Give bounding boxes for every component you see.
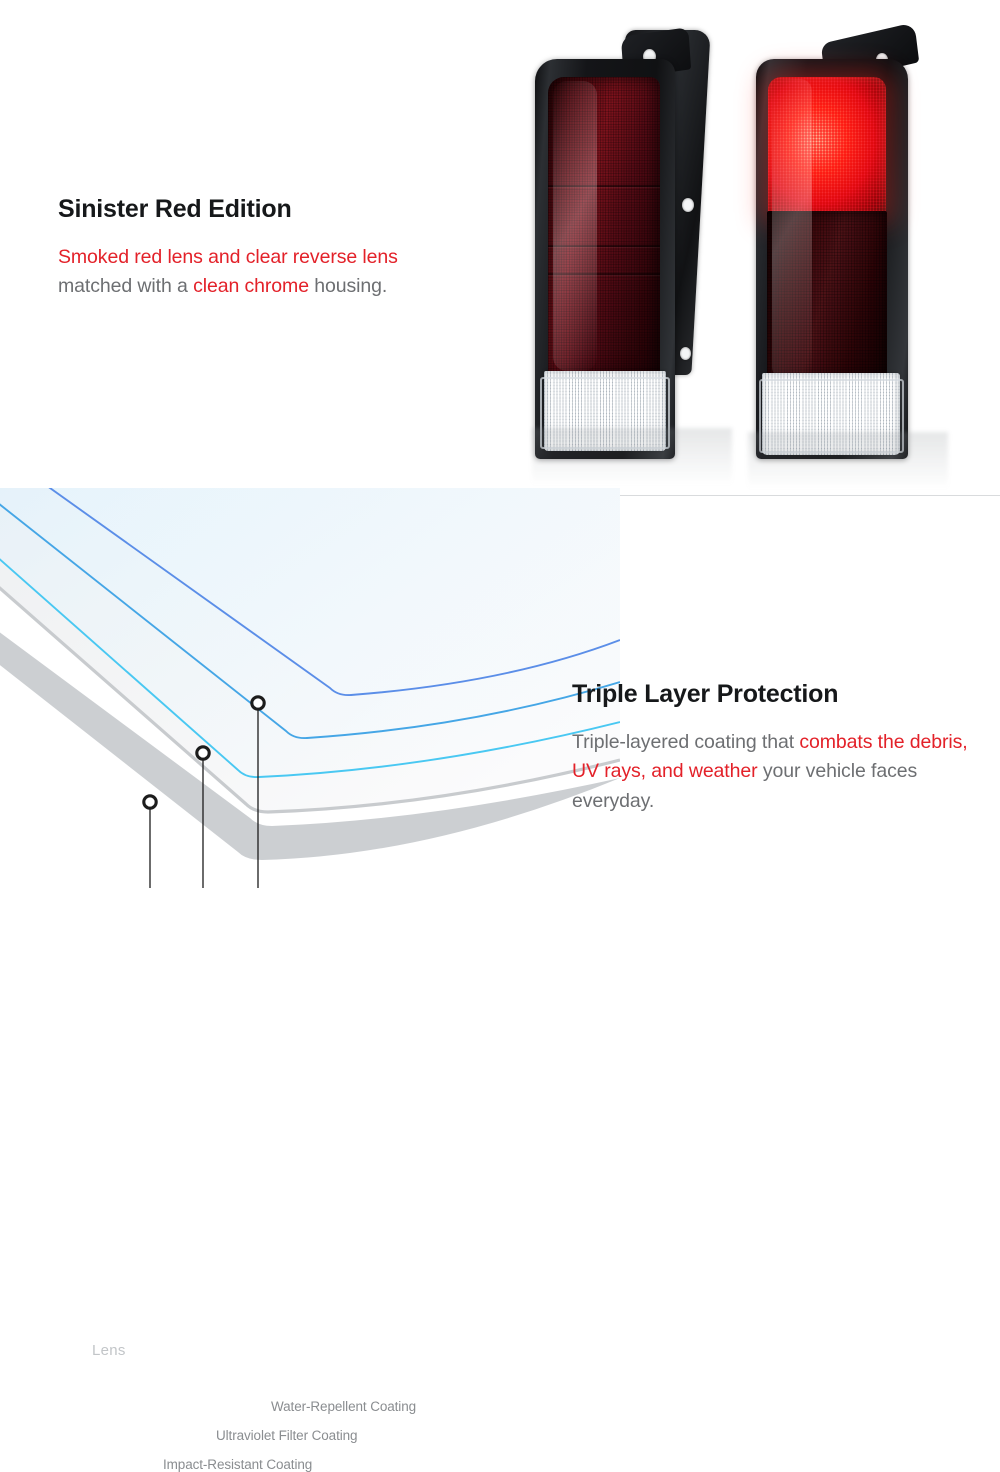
tail-light-pair-photo <box>520 0 1000 495</box>
top-copy-block: Sinister Red Edition Smoked red lens and… <box>58 196 488 302</box>
smoked-red-lens <box>548 77 660 377</box>
top-subcopy-run-4: housing. <box>309 275 387 297</box>
photo-reflection <box>748 432 948 490</box>
callout-label-water-repellent: Water-Repellent Coating <box>271 1399 416 1414</box>
callout-marker-impact-resistant <box>144 796 156 808</box>
screw-hole-icon <box>682 198 694 212</box>
illuminated-red-lens <box>768 77 886 217</box>
triple-layer-diagram <box>0 488 620 888</box>
tail-light-right-illuminated <box>748 32 948 457</box>
top-subcopy-run-1: Smoked red lens and clear reverse lens <box>58 246 398 268</box>
top-subcopy-run-3: clean chrome <box>193 275 309 297</box>
photo-reflection <box>532 428 732 486</box>
bottom-subcopy-run-1: Triple-layered coating that <box>572 731 799 753</box>
coating-diagram-section: Lens Water-Repellent Coating Ultraviolet… <box>0 496 1000 1000</box>
top-subcopy: Smoked red lens and clear reverse lens m… <box>58 243 488 302</box>
product-photo-section: Sinister Red Edition Smoked red lens and… <box>0 0 1000 495</box>
screw-hole-icon <box>680 347 691 360</box>
lamp-body <box>535 59 675 459</box>
lamp-body <box>756 59 908 459</box>
callout-marker-ultraviolet-filter <box>197 747 209 759</box>
tail-light-left-smoked <box>532 30 732 455</box>
top-headline: Sinister Red Edition <box>58 196 488 224</box>
bottom-subcopy: Triple-layered coating that combats the … <box>572 728 972 817</box>
bottom-copy-block: Triple Layer Protection Triple-layered c… <box>572 681 972 816</box>
top-subcopy-run-2: matched with a <box>58 275 193 297</box>
lens-base-label: Lens <box>92 1342 126 1359</box>
bottom-headline: Triple Layer Protection <box>572 681 972 709</box>
callout-label-ultraviolet-filter: Ultraviolet Filter Coating <box>216 1428 357 1443</box>
callout-marker-water-repellent <box>252 697 264 709</box>
smoked-red-lens-lower <box>767 211 887 379</box>
callout-label-impact-resistant: Impact-Resistant Coating <box>163 1457 312 1472</box>
